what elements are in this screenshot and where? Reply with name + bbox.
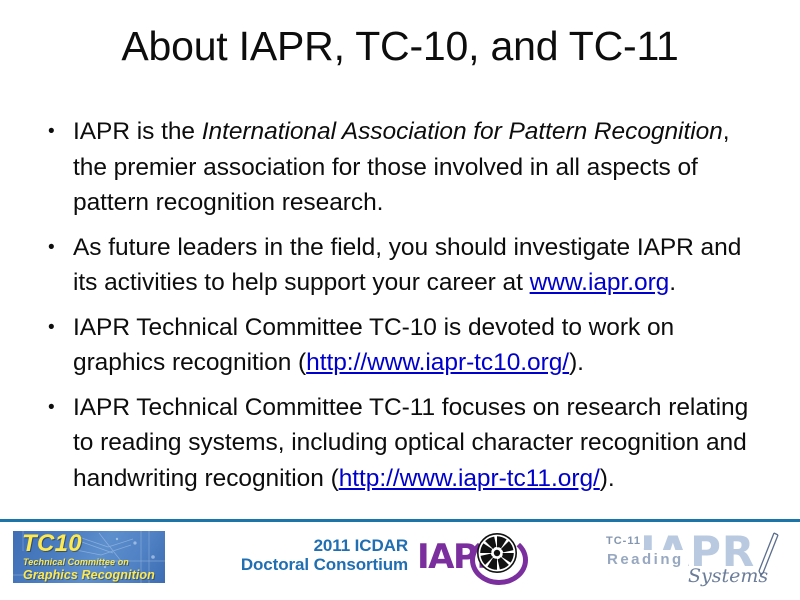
pen-icon: [752, 531, 780, 577]
iapr-pinwheel-icon: [477, 533, 517, 573]
icdar-conference-label: 2011 ICDAR Doctoral Consortium: [222, 536, 408, 574]
hyperlink[interactable]: www.iapr.org: [530, 269, 670, 296]
body-text: .: [669, 269, 676, 296]
iapr-logo[interactable]: IAPR: [415, 530, 535, 586]
list-item: As future leaders in the field, you shou…: [40, 230, 765, 301]
icdar-year-label: 2011 ICDAR: [222, 536, 408, 555]
page-title: About IAPR, TC-10, and TC-11: [0, 24, 800, 69]
emphasized-text: International Association for Pattern Re…: [202, 118, 723, 145]
tc11-reading-label: Reading: [603, 550, 688, 569]
hyperlink[interactable]: http://www.iapr-tc11.org/: [339, 465, 600, 492]
body-text: ).: [569, 349, 584, 376]
list-item: IAPR is the International Association fo…: [40, 114, 765, 221]
list-item: IAPR Technical Committee TC-11 focuses o…: [40, 390, 765, 497]
list-item: IAPR Technical Committee TC-10 is devote…: [40, 310, 765, 381]
tc11-logo[interactable]: IAPR TC-11 Reading Systems: [600, 529, 790, 591]
icdar-event-label: Doctoral Consortium: [222, 555, 408, 574]
tc10-logo[interactable]: TC10 Technical Committee on Graphics Rec…: [13, 531, 165, 583]
tc10-logo-subtitle-line2: Graphics Recognition: [23, 569, 155, 582]
slide: About IAPR, TC-10, and TC-11 IAPR is the…: [0, 0, 800, 600]
hyperlink[interactable]: http://www.iapr-tc10.org/: [306, 349, 569, 376]
body-text: IAPR is the: [73, 118, 202, 145]
body-text: ).: [600, 465, 615, 492]
tc11-committee-tag: TC-11: [603, 535, 644, 548]
footer: TC10 Technical Committee on Graphics Rec…: [0, 522, 800, 600]
bullet-list: IAPR is the International Association fo…: [40, 114, 765, 505]
tc10-logo-title: TC10: [22, 532, 82, 556]
tc10-logo-subtitle-line1: Technical Committee on: [23, 558, 129, 567]
